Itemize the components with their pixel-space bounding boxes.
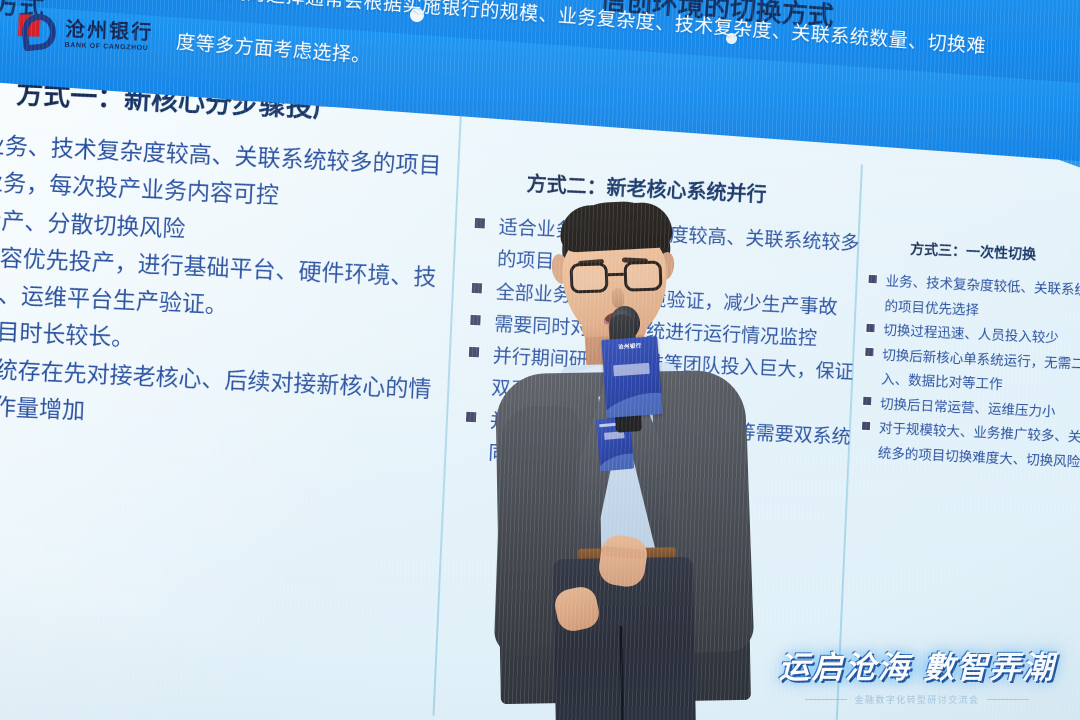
logo-swirl-icon <box>20 12 57 51</box>
bullet-square-icon <box>866 324 874 332</box>
bullet-text: 多次投产、分散切换风险 <box>0 205 186 242</box>
slide-column-3: 方式三：一次性切换 业务、技术复杂度较低、关联系统较少的项目优先选择 切换过程迅… <box>858 237 1080 477</box>
glasses-lens-right <box>623 260 662 291</box>
bullet-text: 对于规模较大、业务推广较多、关联系统多的项目切换难度大、切换风险高。 <box>877 421 1080 472</box>
bullet-text: 切换过程迅速、人员投入较少 <box>883 323 1059 347</box>
bullet-text: 切换后新核心单系统运行，无需二次投入、数据比对等工作 <box>881 347 1080 393</box>
watermark-subtitle-row: 金融数字化转型研讨交流会 <box>772 693 1062 706</box>
photo-frame: 方式一：新核心分步骤投产 适合业务、技术复杂度较高、关联系统较多的项目 拆分业务… <box>0 0 1080 720</box>
bullet-square-icon <box>869 275 877 283</box>
bullet-square-icon <box>862 422 870 430</box>
badge-text-block <box>604 431 625 440</box>
column-3-title: 方式三：一次性切换 <box>910 239 1080 268</box>
speaker-figure: 沧州银行 <box>470 196 770 720</box>
bullet-text: 切换后日常运营、运维压力小 <box>880 396 1056 420</box>
bank-logo-mark-icon <box>17 12 59 54</box>
bank-logo-chinese: 沧州银行 <box>65 19 154 42</box>
microphone-flag: 沧州银行 <box>601 336 662 418</box>
microphone-flag-wave-graphic <box>601 386 662 418</box>
bullet-square-icon <box>865 348 873 356</box>
event-watermark: 运启沧海 數智弄潮 金融数字化转型研讨交流会 <box>772 642 1062 706</box>
bullet-text: 整体项目时长较长。 <box>0 317 135 352</box>
watermark-subtitle: 金融数字化转型研讨交流会 <box>855 693 980 706</box>
slide-column-1: 方式一：新核心分步骤投产 适合业务、技术复杂度较高、关联系统较多的项目 拆分业务… <box>0 67 453 446</box>
watermark-rule-right <box>987 699 1029 700</box>
watermark-title: 运启沧海 數智弄潮 <box>772 642 1062 687</box>
column-3-title-text: 一次性切换 <box>966 244 1037 263</box>
badge-wave-graphic <box>596 448 634 471</box>
column-3-bullets: 业务、技术复杂度较低、关联系统较少的项目优先选择 切换过程迅速、人员投入较少 切… <box>858 269 1080 477</box>
column-2-title-prefix: 方式二： <box>526 171 607 199</box>
bullet-square-icon <box>863 397 871 405</box>
watermark-rule-left <box>805 699 847 700</box>
bank-logo: 沧州银行 BANK OF CANGZHOU <box>17 7 171 63</box>
glasses-bridge <box>608 273 624 277</box>
list-item: 对于规模较大、业务推广较多、关联系统多的项目切换难度大、切换风险高。 <box>858 416 1080 476</box>
column-3-title-prefix: 方式三： <box>910 242 967 261</box>
bullet-text: 业务、技术复杂度较低、关联系统较少的项目优先选择 <box>884 274 1080 319</box>
glasses-lens-left <box>570 262 609 293</box>
speaker-hair-front <box>559 201 673 253</box>
bank-logo-text: 沧州银行 BANK OF CANGZHOU <box>64 19 153 52</box>
column-1-bullets: 适合业务、技术复杂度较高、关联系统较多的项目 拆分业务，每次投产业务内容可控 多… <box>0 124 450 446</box>
microphone-flag-stripe <box>613 363 650 376</box>
microphone-flag-text: 沧州银行 <box>607 342 653 352</box>
